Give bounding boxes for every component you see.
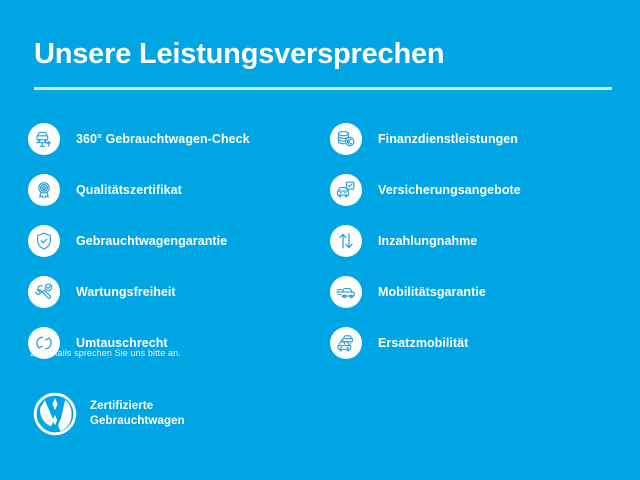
promise-label: Wartungsfreiheit [76, 285, 176, 299]
two-cars-icon [330, 327, 362, 359]
promise-item[interactable]: Ersatzmobilität [330, 322, 630, 364]
promise-item[interactable]: Gebrauchtwagengarantie [28, 220, 328, 262]
page-title: Unsere Leistungsversprechen [34, 37, 444, 71]
promise-label: Mobilitätsgarantie [378, 285, 486, 299]
volkswagen-logo-icon [33, 392, 77, 436]
logo-wordmark: Zertifizierte Gebrauchtwagen [90, 399, 185, 429]
promise-label: 360° Gebrauchtwagen-Check [76, 132, 250, 146]
promise-item[interactable]: Versicherungsangebote [330, 169, 630, 211]
promise-item[interactable]: Qualitätszertifikat [28, 169, 328, 211]
footnote-text: Zu Details sprechen Sie uns bitte an. [30, 348, 181, 358]
promises-column-left: 360° Gebrauchtwagen-Check Qualitätszerti… [28, 118, 328, 364]
promise-label: Versicherungsangebote [378, 183, 521, 197]
promise-label: Finanzdienstleistungen [378, 132, 518, 146]
slide-canvas: Unsere Leistungsversprechen [0, 0, 640, 480]
logo-line-1: Zertifizierte [90, 399, 185, 414]
promise-item[interactable]: Wartungsfreiheit [28, 271, 328, 313]
promise-item[interactable]: Inzahlungnahme [330, 220, 630, 262]
coins-euro-icon [330, 123, 362, 155]
car-motion-icon [330, 276, 362, 308]
logo-lockup: Zertifizierte Gebrauchtwagen [33, 392, 185, 436]
promise-item[interactable]: Mobilitätsgarantie [330, 271, 630, 313]
logo-line-2: Gebrauchtwagen [90, 414, 185, 429]
promises-column-right: Finanzdienstleistungen Versicherungsange… [330, 118, 630, 364]
promise-label: Ersatzmobilität [378, 336, 468, 350]
car-on-lift-icon [28, 123, 60, 155]
wrench-check-icon [28, 276, 60, 308]
award-medal-icon [28, 174, 60, 206]
promise-label: Inzahlungnahme [378, 234, 477, 248]
promise-item[interactable]: 360° Gebrauchtwagen-Check [28, 118, 328, 160]
promise-label: Gebrauchtwagengarantie [76, 234, 227, 248]
promise-label: Qualitätszertifikat [76, 183, 182, 197]
up-down-arrows-icon [330, 225, 362, 257]
promise-item[interactable]: Finanzdienstleistungen [330, 118, 630, 160]
shield-check-icon [28, 225, 60, 257]
title-divider [34, 87, 612, 90]
car-document-icon [330, 174, 362, 206]
